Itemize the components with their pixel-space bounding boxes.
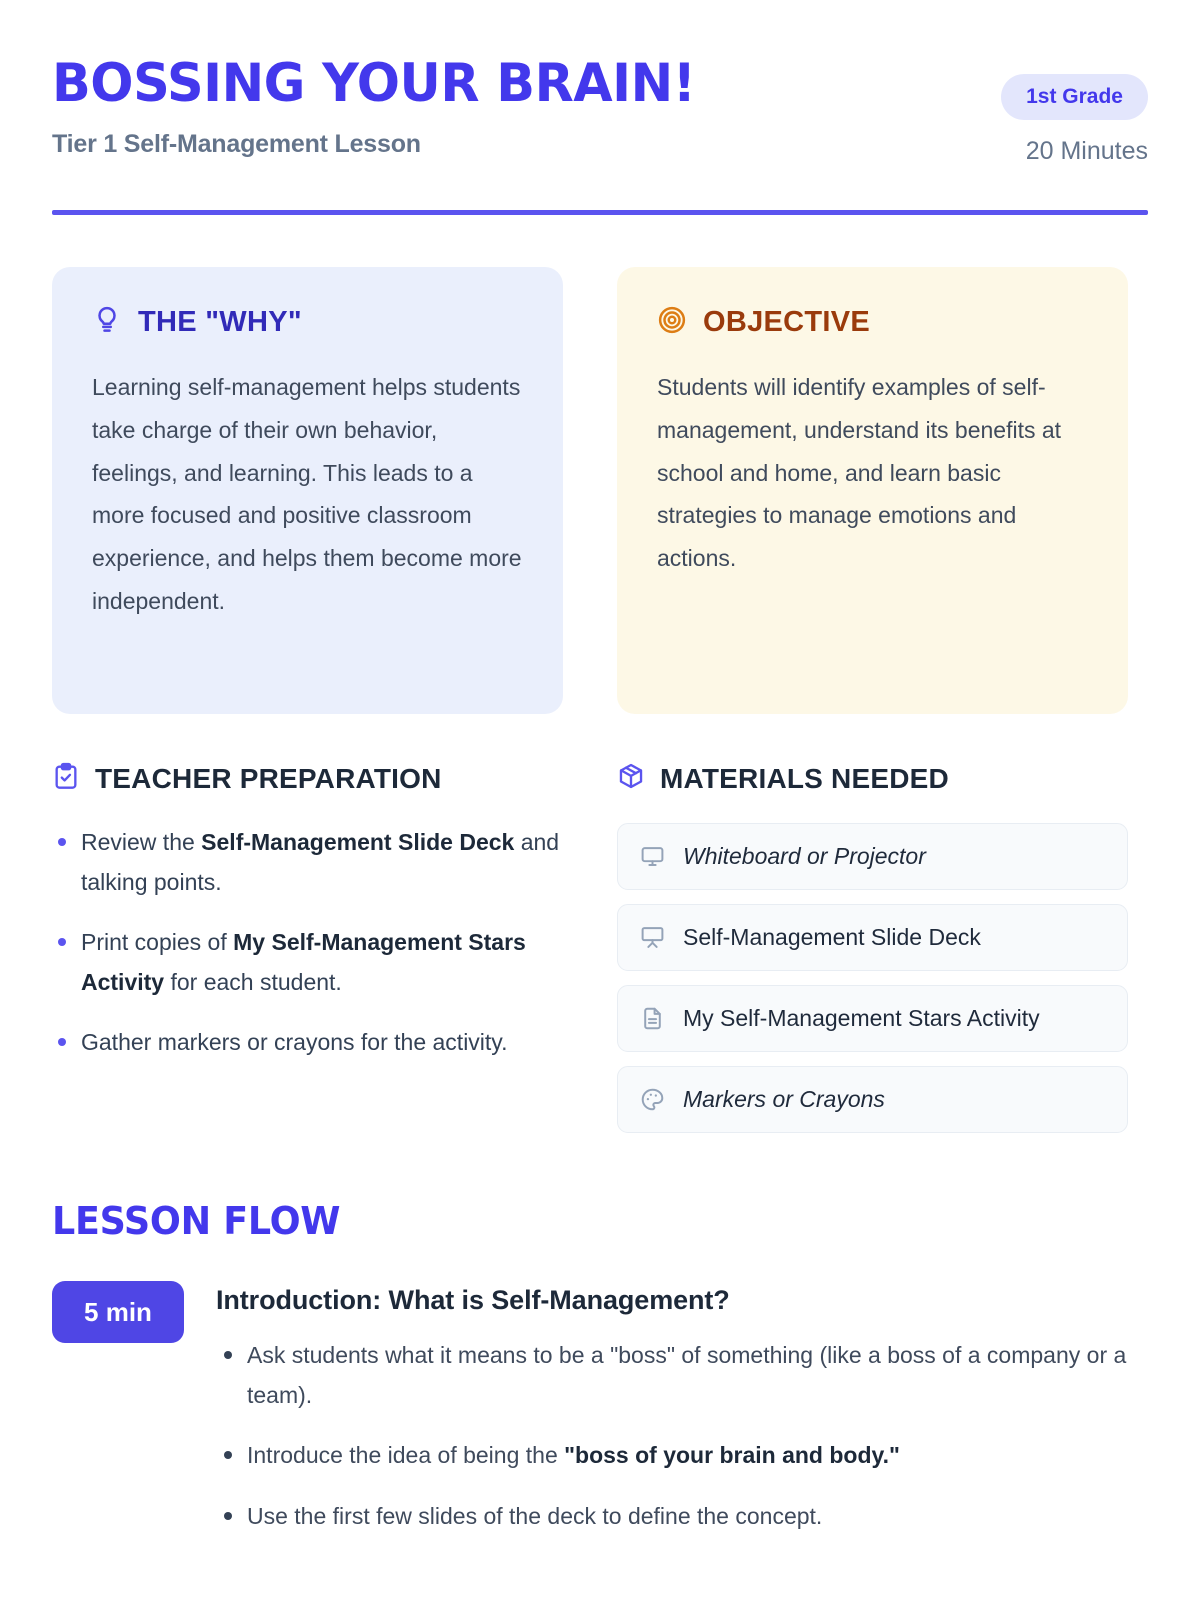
duration-label: 20 Minutes	[1026, 137, 1148, 166]
list-item: My Self-Management Stars Activity	[617, 985, 1128, 1052]
header-right: 1st Grade 20 Minutes	[1001, 52, 1148, 166]
materials-needed-section: MATERIALS NEEDED Whiteboard or Projector	[617, 762, 1128, 1133]
list-item: Gather markers or crayons for the activi…	[52, 1023, 563, 1063]
list-item: Print copies of My Self-Management Stars…	[52, 923, 563, 1002]
why-card-header: THE "WHY"	[92, 305, 523, 340]
lesson-plan-page: BOSSING YOUR BRAIN! Tier 1 Self-Manageme…	[0, 0, 1200, 1600]
list-item: Self-Management Slide Deck	[617, 904, 1128, 971]
header-left: BOSSING YOUR BRAIN! Tier 1 Self-Manageme…	[52, 52, 722, 159]
bullet-text-pre: Use the first few slides of the deck to …	[247, 1503, 822, 1529]
why-card-body: Learning self-management helps students …	[92, 366, 523, 623]
list-item: Whiteboard or Projector	[617, 823, 1128, 890]
bullet-text-pre: Introduce the idea of being the	[247, 1442, 564, 1468]
step-title: Introduction: What is Self-Management?	[216, 1285, 1148, 1316]
prep-text-pre: Print copies of	[81, 929, 233, 955]
list-item: Use the first few slides of the deck to …	[216, 1497, 1148, 1537]
list-item: Ask students what it means to be a "boss…	[216, 1336, 1148, 1415]
objective-card-header: OBJECTIVE	[657, 305, 1088, 340]
step-time-badge: 5 min	[52, 1281, 184, 1343]
prep-text-bold: Self-Management Slide Deck	[201, 829, 514, 855]
bullet-text-bold: "boss of your brain and body."	[564, 1442, 900, 1468]
objective-card: OBJECTIVE Students will identify example…	[617, 267, 1128, 714]
prep-and-materials: TEACHER PREPARATION Review the Self-Mana…	[52, 762, 1148, 1133]
material-label: My Self-Management Stars Activity	[683, 1005, 1040, 1032]
lightbulb-icon	[92, 305, 122, 340]
list-item: Markers or Crayons	[617, 1066, 1128, 1133]
materials-needed-header: MATERIALS NEEDED	[617, 762, 1128, 795]
file-text-icon	[640, 1006, 665, 1031]
summary-cards: THE "WHY" Learning self-management helps…	[52, 267, 1148, 714]
target-icon	[657, 305, 687, 340]
material-label: Markers or Crayons	[683, 1086, 885, 1113]
prep-text-post: for each student.	[164, 969, 342, 995]
why-card-title: THE "WHY"	[138, 306, 302, 339]
list-item: Introduce the idea of being the "boss of…	[216, 1436, 1148, 1476]
teacher-preparation-list: Review the Self-Management Slide Deck an…	[52, 823, 563, 1063]
monitor-icon	[640, 844, 665, 869]
lesson-flow-step: 5 min Introduction: What is Self-Managem…	[52, 1281, 1148, 1557]
objective-card-body: Students will identify examples of self-…	[657, 366, 1088, 580]
objective-card-title: OBJECTIVE	[703, 306, 870, 339]
page-header: BOSSING YOUR BRAIN! Tier 1 Self-Manageme…	[52, 52, 1148, 166]
bullet-text-pre: Ask students what it means to be a "boss…	[247, 1342, 1126, 1408]
list-item: Review the Self-Management Slide Deck an…	[52, 823, 563, 902]
step-bullet-list: Ask students what it means to be a "boss…	[216, 1336, 1148, 1536]
material-label: Whiteboard or Projector	[683, 843, 926, 870]
materials-needed-title: MATERIALS NEEDED	[660, 763, 949, 795]
page-title: BOSSING YOUR BRAIN!	[52, 56, 695, 112]
lesson-flow-title: LESSON FLOW	[52, 1199, 1104, 1243]
header-divider	[52, 210, 1148, 215]
prep-text-pre: Gather markers or crayons for the activi…	[81, 1029, 508, 1055]
materials-list: Whiteboard or Projector Self-Management …	[617, 823, 1128, 1133]
material-label: Self-Management Slide Deck	[683, 924, 981, 951]
palette-icon	[640, 1087, 665, 1112]
teacher-preparation-header: TEACHER PREPARATION	[52, 762, 563, 795]
step-body: Introduction: What is Self-Management? A…	[216, 1281, 1148, 1557]
why-card: THE "WHY" Learning self-management helps…	[52, 267, 563, 714]
clipboard-check-icon	[52, 762, 80, 795]
teacher-preparation-title: TEACHER PREPARATION	[95, 763, 442, 795]
teacher-preparation-section: TEACHER PREPARATION Review the Self-Mana…	[52, 762, 563, 1133]
presentation-icon	[640, 925, 665, 950]
prep-text-pre: Review the	[81, 829, 201, 855]
page-subtitle: Tier 1 Self-Management Lesson	[52, 130, 722, 159]
grade-badge: 1st Grade	[1001, 74, 1148, 120]
package-icon	[617, 762, 645, 795]
